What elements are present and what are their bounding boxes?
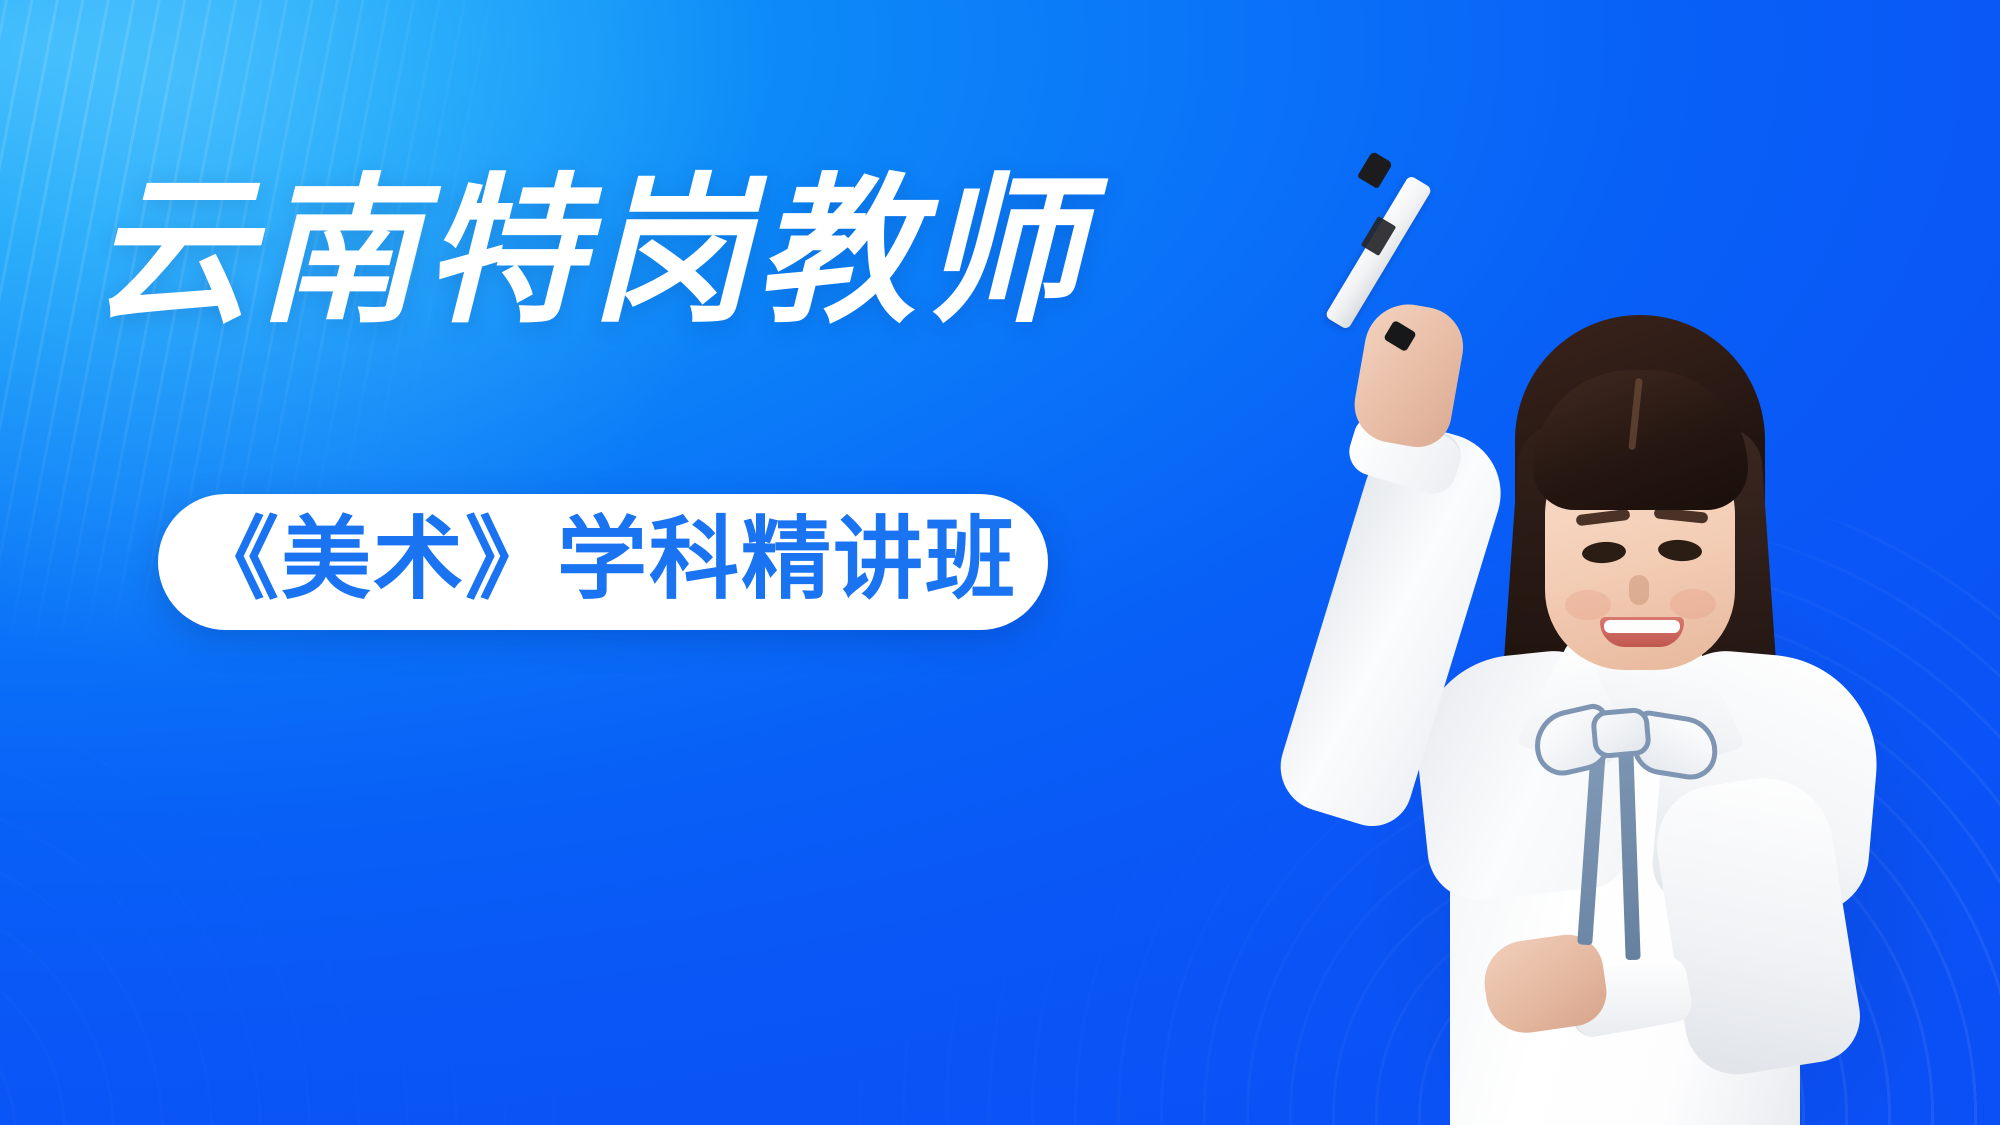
page-title: 云南特岗教师 [92,172,1088,332]
nose [1629,575,1649,605]
diagonal-lines-pattern [0,0,689,860]
cheek-left [1565,590,1611,620]
teacher-photo [1240,245,2000,1125]
cheek-right [1670,589,1716,619]
bow-knot [1590,707,1652,760]
raised-hand [1349,298,1470,453]
subtitle-badge: 《美术》学科精讲班 [158,494,1048,630]
subtitle-badge-label: 《美术》学科精讲班 [189,515,1017,605]
marker-tip [1357,151,1393,189]
course-promo-banner: 云南特岗教师 《美术》学科精讲班 [0,0,2000,1125]
mouth [1600,617,1684,647]
teeth [1604,620,1680,633]
